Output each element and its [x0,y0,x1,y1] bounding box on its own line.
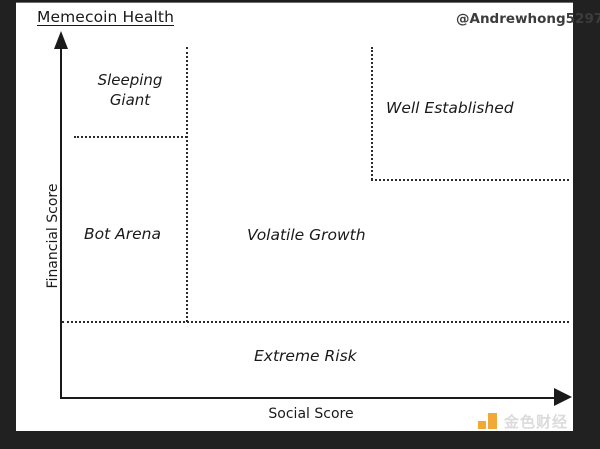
author-handle: @Andrewhong5297 [456,11,581,27]
x-axis-arrow-icon [554,388,572,406]
page-margin-bottom [0,431,600,449]
watermark-logo-icon [478,412,498,432]
y-axis-label: Financial Score [45,161,61,311]
zone-label-well-established: Well Established [386,98,514,118]
y-axis-arrow-icon [54,31,68,49]
guide-line-vertical-well [371,47,373,180]
zone-label-bot-arena: Bot Arena [84,224,161,244]
x-axis-label: Social Score [216,406,406,422]
watermark: 金色财经 [478,411,568,432]
zone-label-sleeping-giant: Sleeping Giant [78,71,182,111]
page-margin-right [573,0,600,449]
watermark-text: 金色财经 [504,411,568,432]
guide-line-horizontal-well [371,179,569,181]
page-title: Memecoin Health [37,8,174,26]
guide-line-horizontal-sleeping [74,136,187,138]
diagram-canvas: Memecoin Health @Andrewhong5297 Financia… [16,3,573,431]
zone-label-volatile-growth: Volatile Growth [247,225,366,245]
guide-line-vertical-left [186,47,188,322]
guide-line-horizontal-risk [62,321,569,323]
x-axis-line [60,397,556,399]
page-margin-left [0,0,16,449]
zone-label-extreme-risk: Extreme Risk [254,346,357,366]
screenshot-root: Memecoin Health @Andrewhong5297 Financia… [0,0,600,449]
